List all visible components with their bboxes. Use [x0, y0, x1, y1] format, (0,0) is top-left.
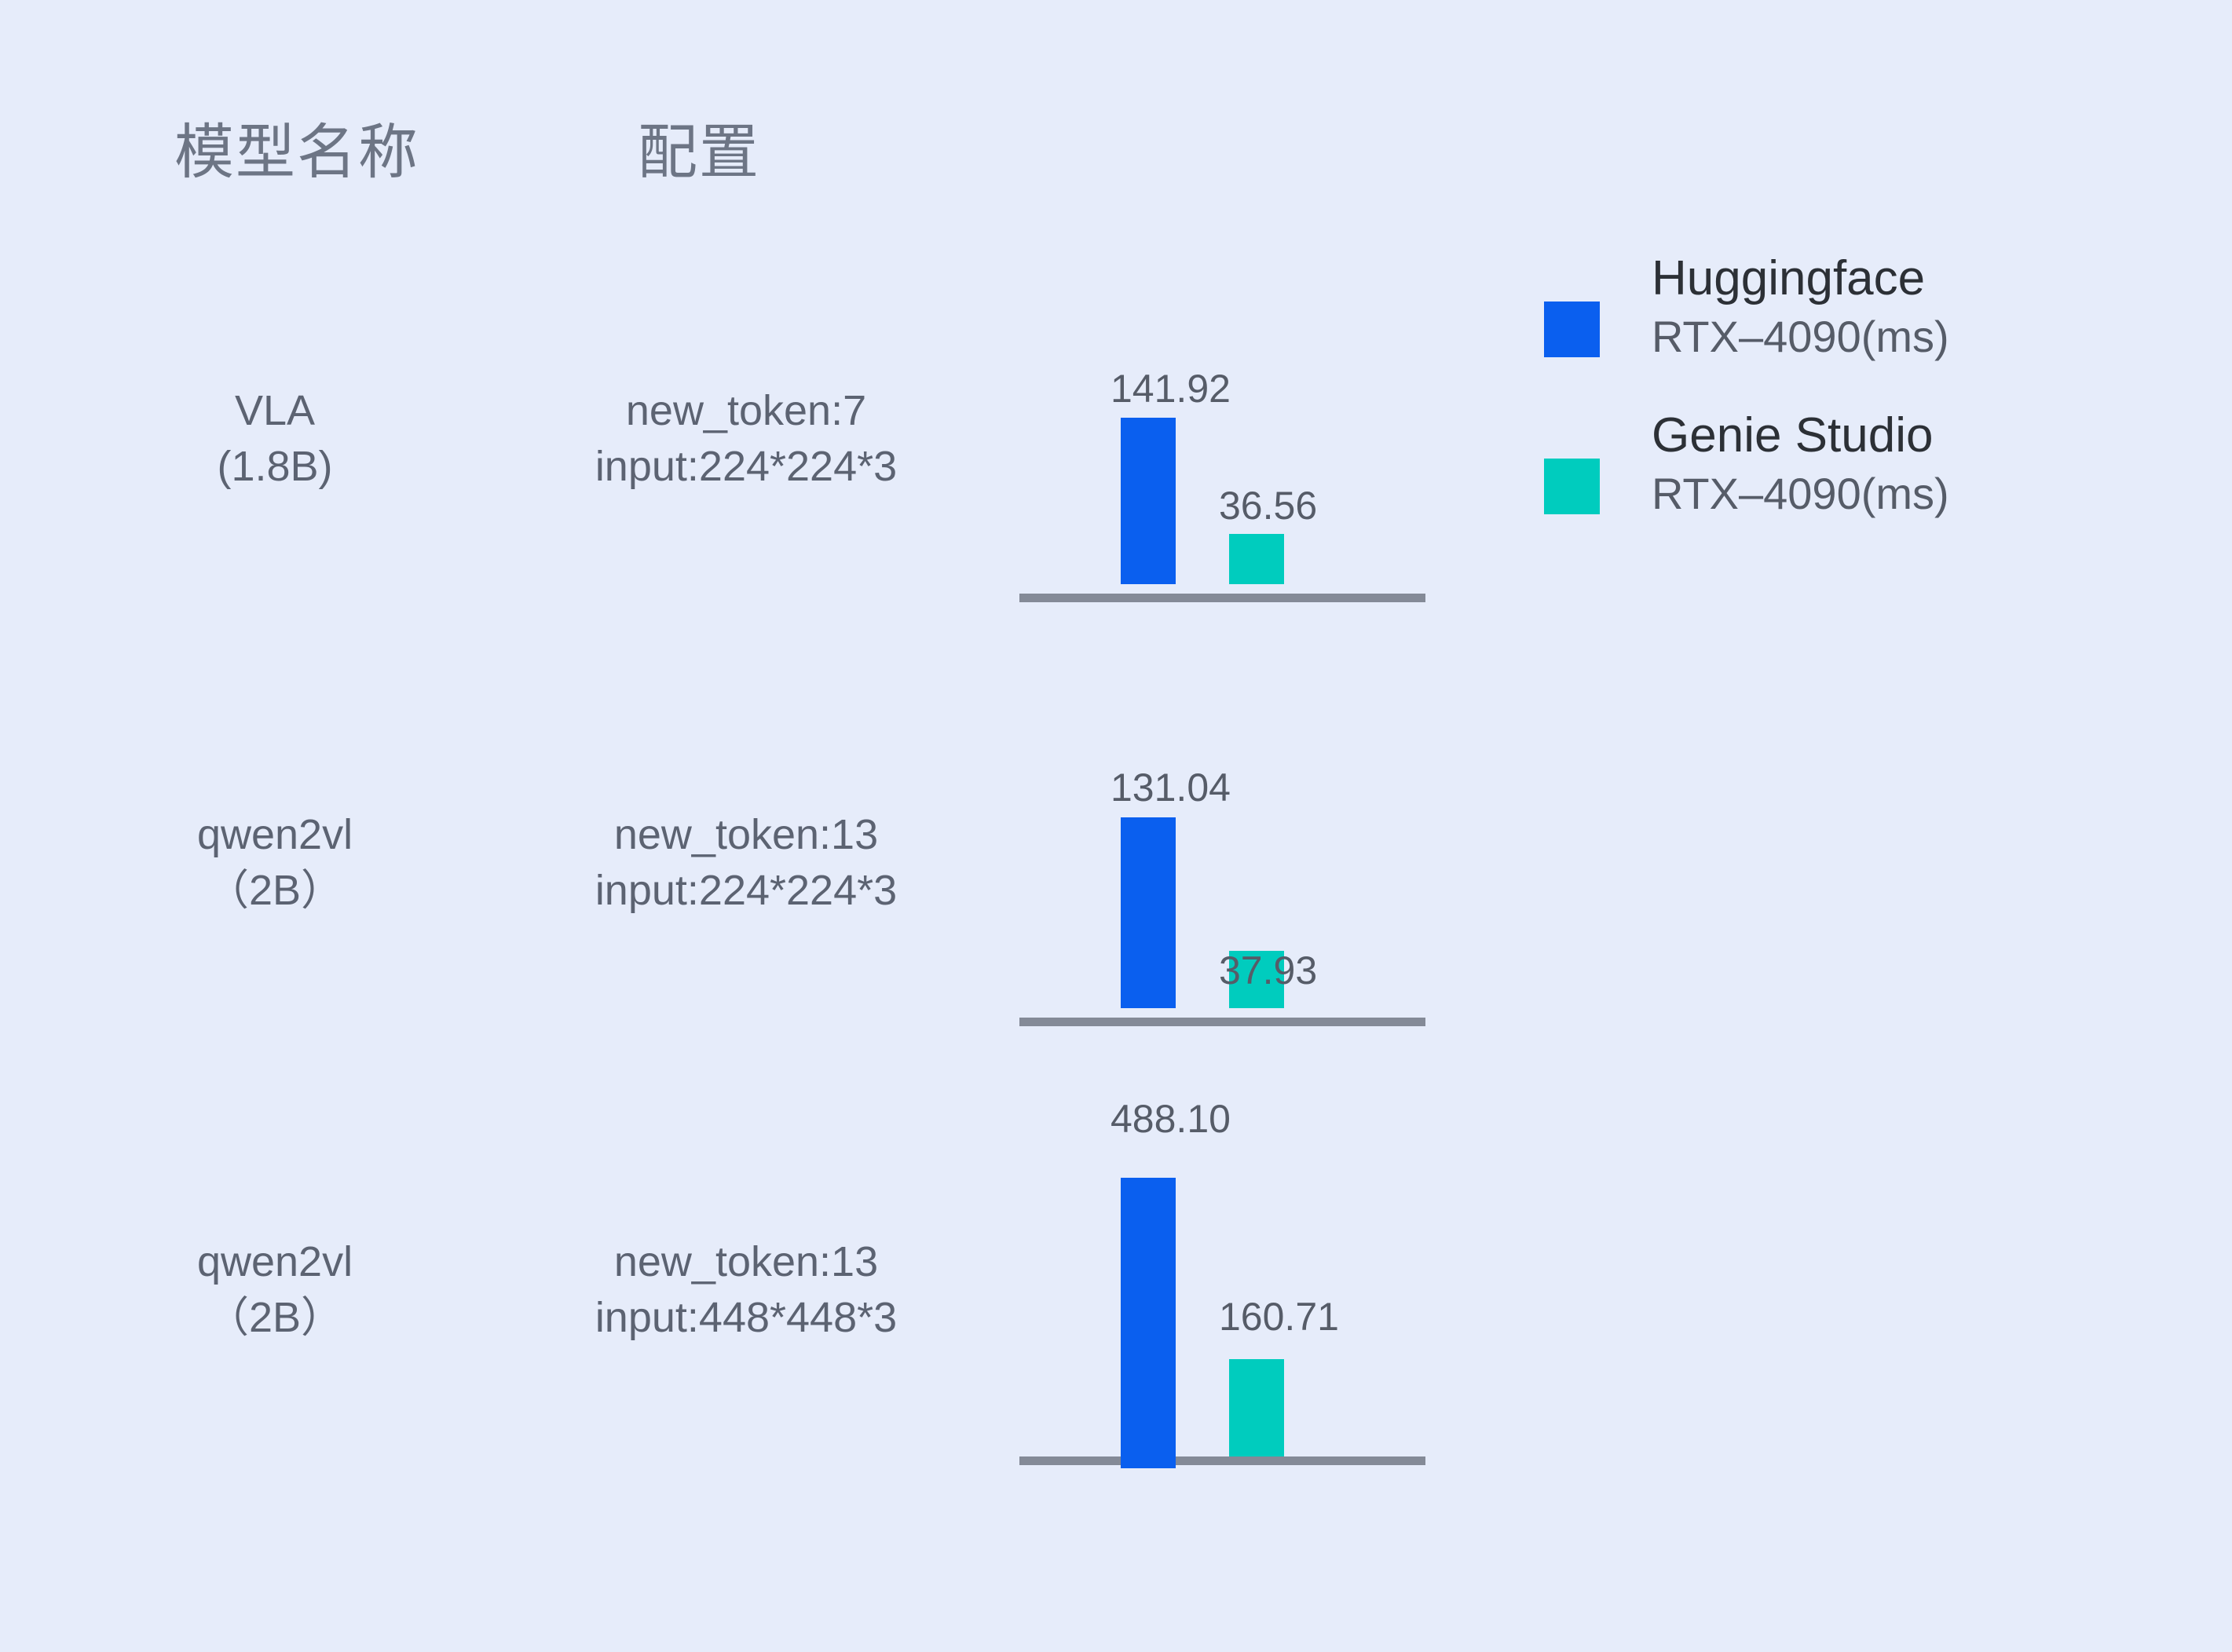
- legend-subtitle-genie-studio: RTX–4090(ms): [1652, 467, 2154, 521]
- chart-legend: Huggingface RTX–4090(ms) Genie Studio RT…: [1544, 251, 2172, 565]
- column-headers: 模型名称 配置: [0, 122, 2232, 216]
- row-config-label: new_token:7 input:224*224*3: [503, 383, 990, 495]
- row-model-line2: （2B）: [149, 863, 401, 919]
- legend-item-genie-studio[interactable]: Genie Studio RTX–4090(ms): [1544, 408, 2172, 565]
- row-plot: 141.92 36.56: [1019, 291, 1428, 628]
- baseline-rule: [1019, 1018, 1425, 1026]
- row-plot: 488.10 160.71: [1019, 1099, 1428, 1492]
- row-config-label: new_token:13 input:224*224*3: [503, 807, 990, 919]
- chart-page: 模型名称 配置 VLA (1.8B) new_token:7 input:224…: [0, 0, 2232, 1652]
- bar-genie-studio[interactable]: [1229, 534, 1284, 584]
- row-model-line1: qwen2vl: [149, 807, 401, 863]
- row-model-label: VLA (1.8B): [149, 383, 401, 495]
- bar-huggingface[interactable]: [1121, 1178, 1176, 1468]
- row-model-line2: (1.8B): [149, 439, 401, 495]
- baseline-rule: [1019, 594, 1425, 602]
- legend-swatch-huggingface: [1544, 302, 1600, 357]
- row-config-line2: input:224*224*3: [503, 863, 990, 919]
- bar-genie-studio[interactable]: [1229, 1359, 1284, 1456]
- row-model-line1: qwen2vl: [149, 1234, 401, 1290]
- row-model-label: qwen2vl （2B）: [149, 1234, 401, 1347]
- row-config-label: new_token:13 input:448*448*3: [503, 1234, 990, 1347]
- row-config-line1: new_token:13: [503, 1234, 990, 1290]
- row-config-line1: new_token:13: [503, 807, 990, 863]
- row-model-line1: VLA: [149, 383, 401, 439]
- header-config: 配置: [638, 122, 760, 185]
- bar-value-huggingface: 141.92: [1111, 369, 1231, 408]
- legend-title-huggingface: Huggingface: [1652, 251, 2154, 305]
- baseline-rule: [1019, 1456, 1425, 1465]
- bar-huggingface[interactable]: [1121, 817, 1176, 1008]
- chart-row: qwen2vl （2B） new_token:13 input:448*448*…: [0, 1099, 2232, 1492]
- bar-value-genie-studio: 37.93: [1219, 951, 1317, 990]
- row-config-line2: input:224*224*3: [503, 439, 990, 495]
- legend-title-genie-studio: Genie Studio: [1652, 408, 2154, 462]
- chart-row: qwen2vl （2B） new_token:13 input:224*224*…: [0, 715, 2232, 1052]
- bar-value-genie-studio: 160.71: [1219, 1297, 1339, 1336]
- row-config-line2: input:448*448*3: [503, 1290, 990, 1346]
- bar-value-huggingface: 488.10: [1111, 1099, 1231, 1138]
- row-model-label: qwen2vl （2B）: [149, 807, 401, 919]
- legend-swatch-genie-studio: [1544, 459, 1600, 514]
- bar-value-genie-studio: 36.56: [1219, 486, 1317, 525]
- row-model-line2: （2B）: [149, 1290, 401, 1346]
- legend-text-genie-studio: Genie Studio RTX–4090(ms): [1652, 408, 2154, 521]
- header-model-name: 模型名称: [174, 122, 419, 185]
- row-plot: 131.04 37.93: [1019, 715, 1428, 1052]
- legend-item-huggingface[interactable]: Huggingface RTX–4090(ms): [1544, 251, 2172, 408]
- row-config-line1: new_token:7: [503, 383, 990, 439]
- legend-text-huggingface: Huggingface RTX–4090(ms): [1652, 251, 2154, 364]
- bar-value-huggingface: 131.04: [1111, 768, 1231, 807]
- legend-subtitle-huggingface: RTX–4090(ms): [1652, 310, 2154, 364]
- bar-huggingface[interactable]: [1121, 418, 1176, 584]
